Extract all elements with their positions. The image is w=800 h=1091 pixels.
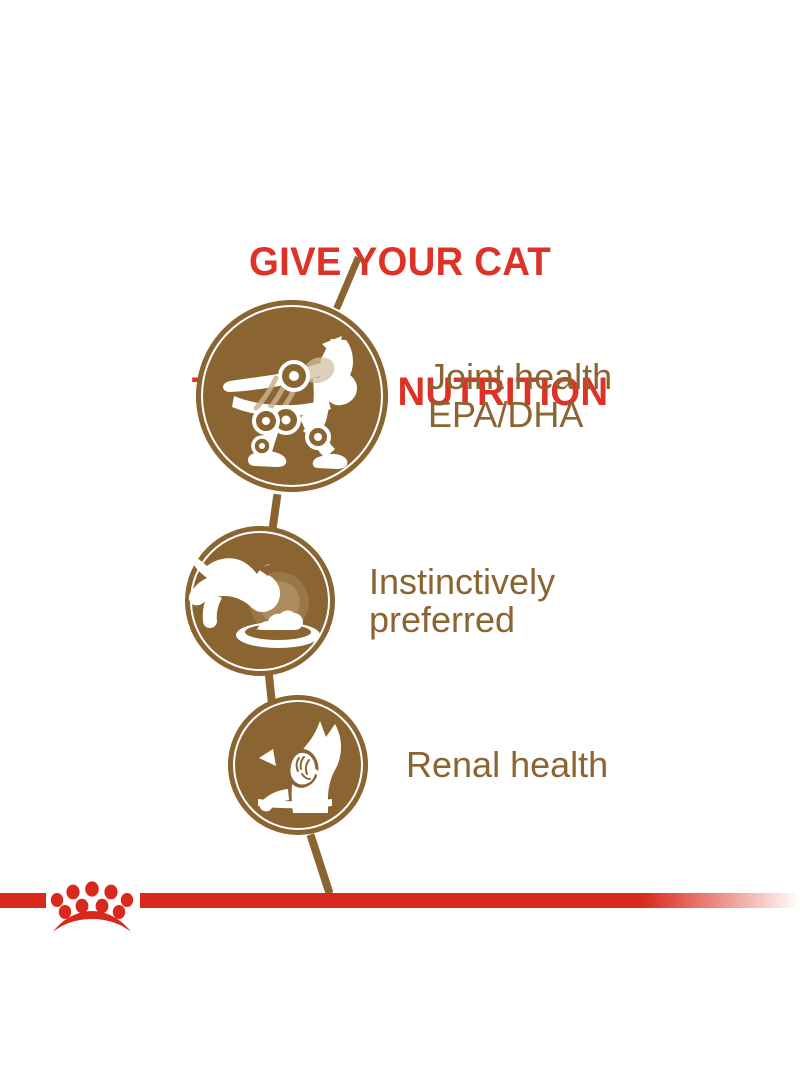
benefit-label-joint-health: Joint health EPA/DHA — [428, 358, 612, 434]
benefit-label-instinctively-preferred: Instinctively preferred — [369, 563, 555, 639]
cat-kidney-renal-icon — [228, 695, 368, 835]
page-title-line-1: GIVE YOUR CAT — [16, 241, 784, 284]
brand-bar-right-segment — [140, 893, 800, 908]
benefit-item-renal-health: Renal health — [228, 695, 608, 835]
packaging-info-panel: GIVE YOUR CAT TAILORED NUTRITION — [0, 0, 800, 1091]
benefit-item-joint-health: Joint health EPA/DHA — [196, 300, 612, 492]
benefit-item-instinctively-preferred: Instinctively preferred — [185, 526, 555, 676]
brand-bar-left-segment — [0, 893, 46, 908]
royal-canin-crown-icon — [49, 880, 141, 935]
benefit-label-renal-health: Renal health — [406, 746, 608, 784]
cat-eating-bowl-icon — [185, 526, 335, 676]
benefit-list: Joint health EPA/DHA — [0, 290, 800, 870]
cat-skeleton-joints-icon — [196, 300, 388, 492]
